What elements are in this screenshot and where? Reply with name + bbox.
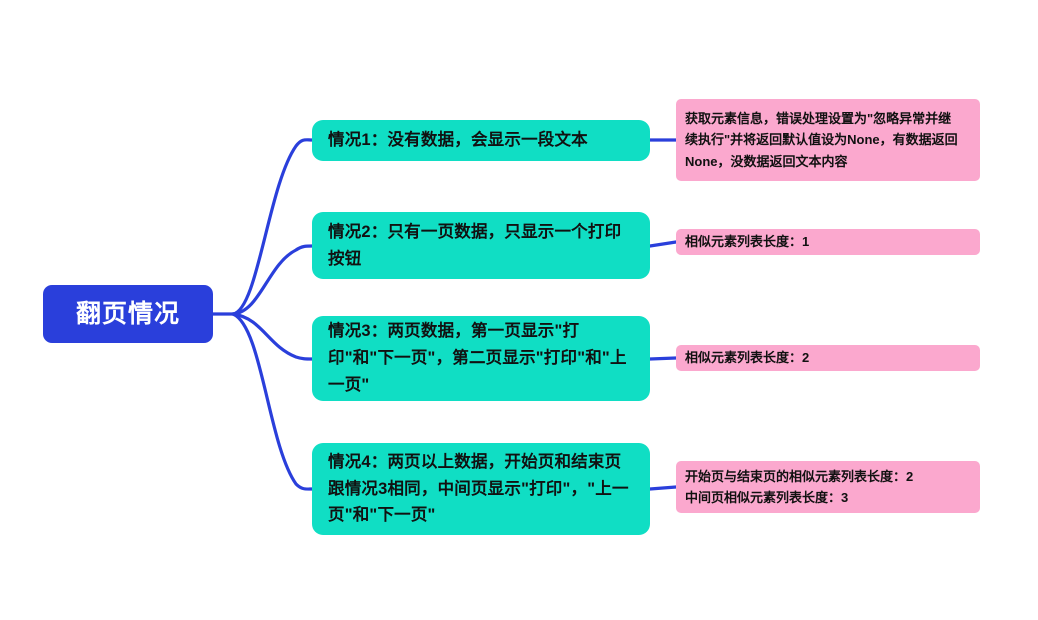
note-node-4-line-1: 开始页与结束页的相似元素列表长度：2 — [685, 469, 913, 484]
note-node-4[interactable]: 开始页与结束页的相似元素列表长度：2 中间页相似元素列表长度：3 — [676, 461, 980, 513]
connector-root-to-branch-1 — [233, 140, 312, 314]
root-node-label: 翻页情况 — [76, 299, 180, 329]
connector-branch-2-to-note-2 — [650, 242, 676, 246]
connector-root-to-branch-2 — [233, 246, 312, 314]
branch-node-2[interactable]: 情况2：只有一页数据，只显示一个打印按钮 — [312, 212, 650, 279]
note-node-2[interactable]: 相似元素列表长度：1 — [676, 229, 980, 255]
note-node-3-text: 相似元素列表长度：2 — [685, 347, 809, 368]
connector-root-to-branch-4 — [233, 314, 312, 489]
branch-node-1-label: 情况1：没有数据，会显示一段文本 — [328, 127, 588, 154]
root-node[interactable]: 翻页情况 — [43, 285, 213, 343]
connector-root-to-branch-3 — [233, 314, 312, 359]
note-node-2-text: 相似元素列表长度：1 — [685, 231, 809, 252]
note-node-3[interactable]: 相似元素列表长度：2 — [676, 345, 980, 371]
connector-branch-3-to-note-3 — [650, 358, 676, 359]
note-node-4-line-2: 中间页相似元素列表长度：3 — [685, 490, 848, 505]
branch-node-1[interactable]: 情况1：没有数据，会显示一段文本 — [312, 120, 650, 161]
mindmap-canvas: 翻页情况 情况1：没有数据，会显示一段文本 获取元素信息，错误处理设置为"忽略异… — [0, 0, 1038, 620]
note-node-1-line-3: None，没数据返回文本内容 — [685, 154, 848, 169]
note-node-1[interactable]: 获取元素信息，错误处理设置为"忽略异常并继 续执行"并将返回默认值设为None，… — [676, 99, 980, 181]
note-node-2-line-1: 相似元素列表长度：1 — [685, 234, 809, 249]
branch-node-3[interactable]: 情况3：两页数据，第一页显示"打印"和"下一页"，第二页显示"打印"和"上一页" — [312, 316, 650, 401]
note-node-1-line-2: 续执行"并将返回默认值设为None，有数据返回 — [685, 132, 958, 147]
note-node-3-line-1: 相似元素列表长度：2 — [685, 350, 809, 365]
branch-node-3-label: 情况3：两页数据，第一页显示"打印"和"下一页"，第二页显示"打印"和"上一页" — [328, 318, 634, 398]
branch-node-4[interactable]: 情况4：两页以上数据，开始页和结束页跟情况3相同，中间页显示"打印"，"上一页"… — [312, 443, 650, 535]
note-node-4-text: 开始页与结束页的相似元素列表长度：2 中间页相似元素列表长度：3 — [685, 466, 913, 508]
note-node-1-text: 获取元素信息，错误处理设置为"忽略异常并继 续执行"并将返回默认值设为None，… — [685, 108, 958, 172]
branch-node-2-label: 情况2：只有一页数据，只显示一个打印按钮 — [328, 219, 634, 272]
connector-branch-4-to-note-4 — [650, 487, 676, 489]
branch-node-4-label: 情况4：两页以上数据，开始页和结束页跟情况3相同，中间页显示"打印"，"上一页"… — [328, 449, 634, 529]
note-node-1-line-1: 获取元素信息，错误处理设置为"忽略异常并继 — [685, 111, 951, 126]
